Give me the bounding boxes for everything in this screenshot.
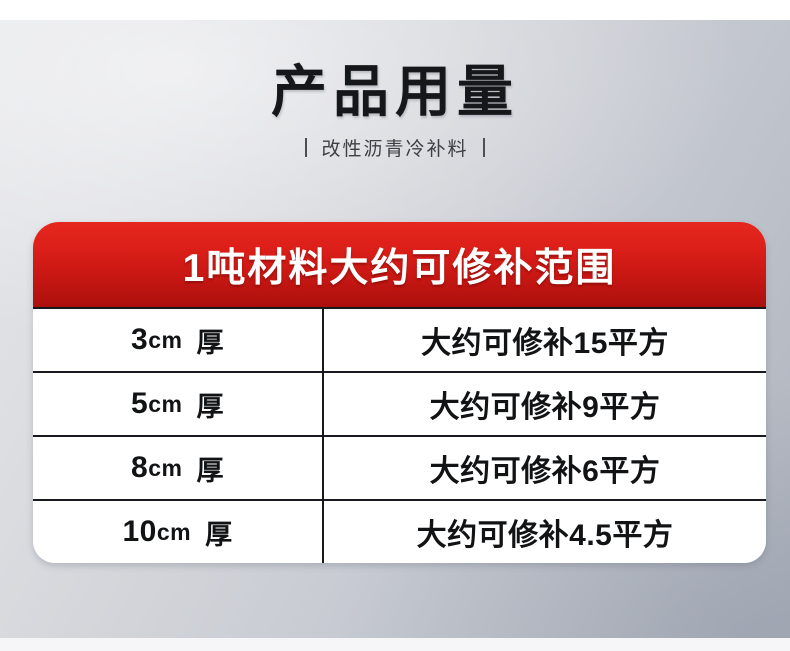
- thickness-value: 5: [131, 387, 148, 421]
- table-row: 10cm厚 大约可修补4.5平方: [33, 499, 766, 563]
- thickness-unit: cm: [148, 391, 182, 418]
- table-header-title: 1吨材料大约可修补范围: [183, 237, 617, 293]
- cell-repair-area: 大约可修补6平方: [324, 437, 766, 499]
- table-header-banner: 1吨材料大约可修补范围: [33, 222, 766, 307]
- bottom-white-strip: [0, 638, 790, 651]
- page-subtitle: 改性沥青冷补料: [0, 134, 790, 161]
- cell-repair-area: 大约可修补4.5平方: [324, 501, 766, 563]
- cell-repair-area: 大约可修补9平方: [324, 373, 766, 435]
- page-title: 产品用量: [0, 62, 790, 122]
- thickness-word: 厚: [196, 321, 224, 360]
- thickness-word: 厚: [196, 385, 224, 424]
- thickness-unit: cm: [148, 327, 182, 354]
- thickness-value: 8: [131, 451, 148, 485]
- thickness-value: 3: [131, 323, 148, 357]
- subtitle-right-bar-icon: [483, 138, 485, 157]
- cell-thickness: 10cm厚: [33, 501, 324, 563]
- thickness-unit: cm: [157, 519, 191, 546]
- table-row: 3cm厚 大约可修补15平方: [33, 307, 766, 371]
- thickness-word: 厚: [196, 449, 224, 488]
- product-usage-infographic: 产品用量 改性沥青冷补料 1吨材料大约可修补范围 3cm厚 大约可修补15平方 …: [0, 0, 790, 651]
- usage-table-card: 1吨材料大约可修补范围 3cm厚 大约可修补15平方 5cm厚 大约可修补9平方…: [33, 222, 766, 563]
- subtitle-left-bar-icon: [305, 138, 307, 157]
- cell-thickness: 8cm厚: [33, 437, 324, 499]
- thickness-value: 10: [122, 515, 156, 549]
- thickness-word: 厚: [205, 513, 233, 552]
- table-row: 8cm厚 大约可修补6平方: [33, 435, 766, 499]
- cell-thickness: 3cm厚: [33, 309, 324, 371]
- cell-repair-area: 大约可修补15平方: [324, 309, 766, 371]
- heading-block: 产品用量 改性沥青冷补料: [0, 62, 790, 161]
- top-white-strip: [0, 0, 790, 20]
- thickness-unit: cm: [148, 455, 182, 482]
- subtitle-text: 改性沥青冷补料: [321, 134, 468, 161]
- cell-thickness: 5cm厚: [33, 373, 324, 435]
- table-row: 5cm厚 大约可修补9平方: [33, 371, 766, 435]
